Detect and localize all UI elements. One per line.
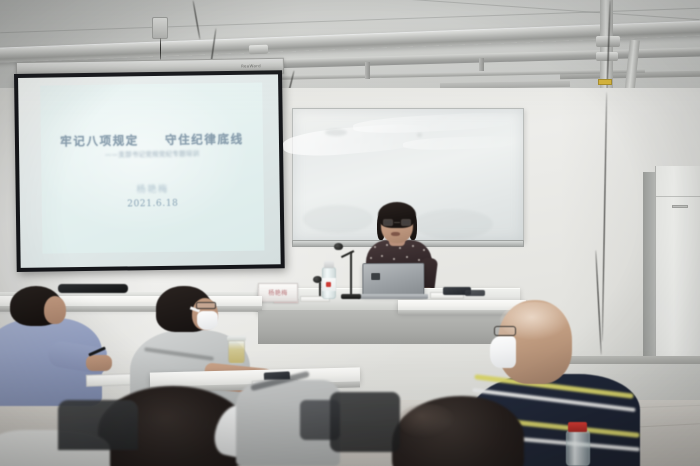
pipe-bracket [479,58,484,71]
cabinet-seam [656,196,700,197]
metal-cabinet [655,166,700,356]
slide-title: 牢记八项规定 守住纪律底线 [41,131,263,150]
pipe-tag [598,79,612,85]
laptop-logo [371,273,380,280]
name-plate: 杨艳梅 [258,283,298,302]
whiteboard-glare [353,111,524,136]
hair-highlight [398,404,456,438]
pipe-bracket [365,62,370,79]
water-bottle[interactable] [566,430,590,466]
eyeglasses [494,326,516,336]
tea-cup[interactable] [228,340,245,364]
ceiling-cable [160,38,161,60]
podium-front-panel [258,310,520,344]
bottle-cap-red [568,422,587,432]
face-mask [490,336,516,368]
cabinet-handle[interactable] [672,205,688,208]
chair-back [58,400,138,450]
microphone-base [341,294,361,299]
laptop-base [358,294,428,299]
desk-device [465,290,485,296]
audience-hand [86,355,112,371]
speaker-mouth [391,232,400,236]
whiteboard-reflection [303,205,373,233]
screen-surface: 牢记八项规定 守住纪律底线 ——支部书记党规党纪专题培训 杨艳梅 2021.6.… [18,74,281,268]
chair-back [330,392,400,452]
projection-screen: 牢记八项规定 守住纪律底线 ——支部书记党规党纪专题培训 杨艳梅 2021.6.… [14,70,285,272]
tea-cup-lid [227,336,246,341]
bag [300,400,340,440]
screen-brand-label: ReaWard [241,63,261,68]
lecture-hall-photo: ReaWard 牢记八项规定 守住纪律底线 ——支部书记党规党纪专题培训 杨艳梅… [0,0,700,466]
laptop[interactable] [362,263,424,296]
projected-slide: 牢记八项规定 守住纪律底线 ——支部书记党规党纪专题培训 杨艳梅 2021.6.… [40,83,264,254]
eyeglasses [196,302,216,309]
speaker-eyeglasses [383,219,411,226]
face-mask [197,311,218,330]
audience-head [44,296,66,324]
notebook-paper [86,373,134,387]
whiteboard-reflection [413,209,493,239]
whiteboard-smudge [417,133,422,137]
microphone-stand [350,252,352,297]
counter-dark-object [58,284,128,293]
bottle-cap [324,261,334,268]
slide-glow [40,83,264,254]
name-plate-text: 杨艳梅 [268,288,287,297]
ceiling-sensor-box [152,17,168,39]
bottle-logo [326,282,331,287]
whiteboard-smudge [325,129,347,136]
microphone-head [334,243,343,250]
pipe-collar [249,45,268,55]
